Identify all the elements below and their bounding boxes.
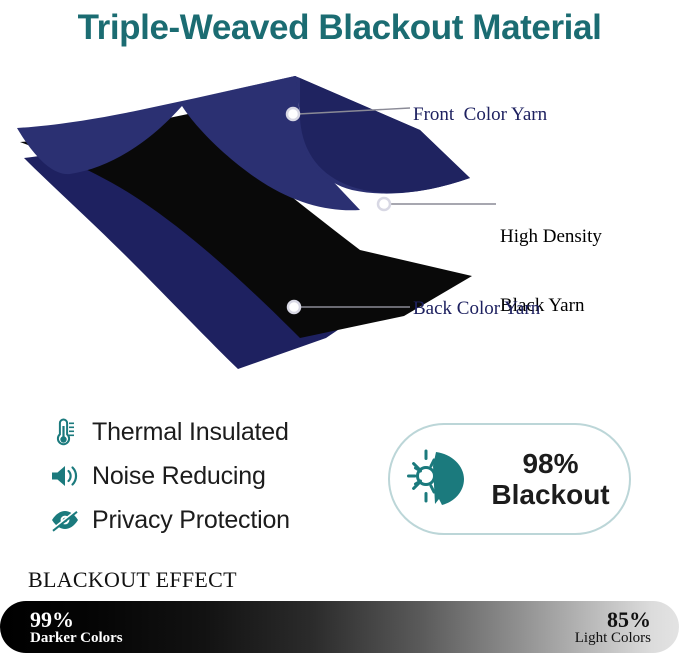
feature-label: Noise Reducing bbox=[92, 462, 266, 491]
gradient-right-stat: 85% Light Colors bbox=[575, 608, 651, 647]
blackout-badge: 98% Blackout bbox=[388, 423, 631, 535]
eye-slash-icon bbox=[48, 503, 82, 537]
speaker-icon bbox=[48, 459, 82, 493]
callout-label-front-color-yarn: Front Color Yarn bbox=[413, 103, 547, 126]
page-title: Triple-Weaved Blackout Material bbox=[0, 4, 679, 52]
gradient-right-label: Light Colors bbox=[575, 631, 651, 647]
feature-noise-reducing: Noise Reducing bbox=[48, 456, 378, 496]
feature-thermal-insulated: Thermal Insulated bbox=[48, 412, 378, 452]
blackout-effect-gradient-bar: 99% Darker Colors 85% Light Colors bbox=[0, 601, 679, 653]
feature-list: Thermal Insulated Noise Reducing Privacy… bbox=[48, 412, 378, 544]
blackout-label: Blackout bbox=[480, 479, 621, 510]
blackout-percent: 98% bbox=[480, 448, 621, 479]
callout-dot-front bbox=[287, 108, 299, 120]
feature-label: Thermal Insulated bbox=[92, 418, 289, 447]
callout-dot-middle bbox=[378, 198, 390, 210]
blackout-effect-title: BLACKOUT EFFECT bbox=[28, 567, 237, 593]
thermometer-icon bbox=[48, 415, 82, 449]
feature-privacy-protection: Privacy Protection bbox=[48, 500, 378, 540]
callout-label-line-1: High Density bbox=[500, 225, 602, 248]
gradient-left-stat: 99% Darker Colors bbox=[30, 608, 123, 647]
feature-label: Privacy Protection bbox=[92, 506, 290, 535]
callout-label-back-color-yarn: Back Color Yarn bbox=[413, 297, 540, 320]
gradient-left-label: Darker Colors bbox=[30, 631, 123, 647]
sun-blocked-icon bbox=[404, 444, 480, 514]
gradient-left-percent: 99% bbox=[30, 608, 123, 631]
blackout-badge-text: 98% Blackout bbox=[480, 448, 629, 510]
callout-dot-back bbox=[288, 301, 300, 313]
gradient-right-percent: 85% bbox=[575, 608, 651, 631]
